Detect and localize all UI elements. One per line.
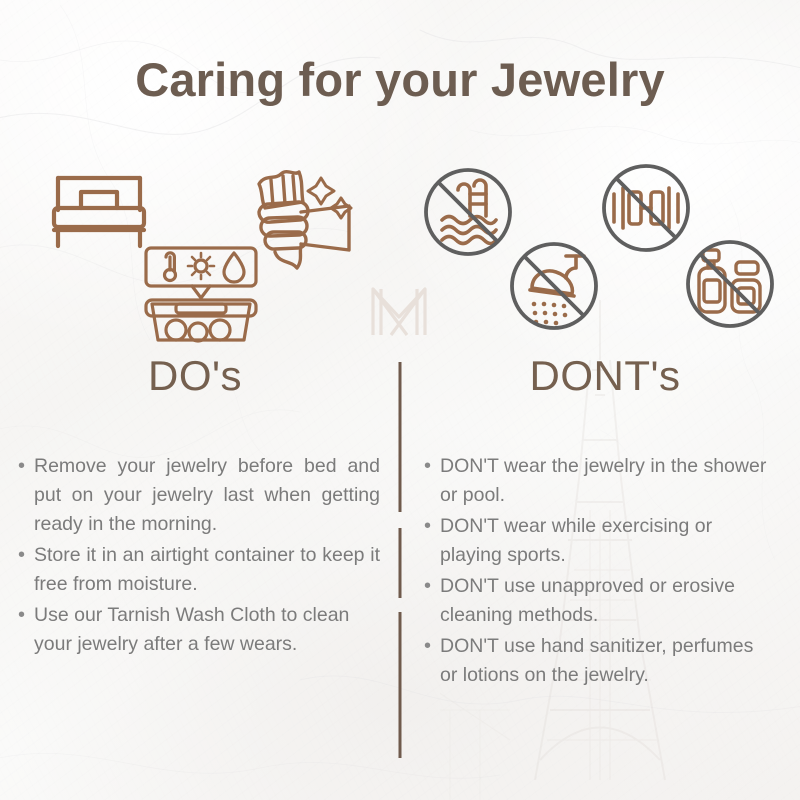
bullet-icon: • (424, 572, 440, 601)
no-lotion-bottles-icon (682, 236, 778, 332)
list-item: • Store it in an airtight container to k… (18, 541, 380, 599)
column-divider (398, 360, 402, 760)
donts-icon-group (410, 160, 785, 345)
list-item-text: DON'T use unapproved or erosive cleaning… (440, 572, 776, 630)
list-item-text: Use our Tarnish Wash Cloth to clean your… (34, 601, 380, 659)
bullet-icon: • (18, 452, 34, 481)
poster-canvas: Caring for your Jewelry (0, 0, 800, 800)
no-shower-icon (506, 238, 602, 334)
dos-list: • Remove your jewelry before bed and put… (18, 452, 380, 661)
bed-icon (48, 170, 158, 252)
donts-list: • DON'T wear the jewelry in the shower o… (424, 452, 776, 692)
list-item: • DON'T wear the jewelry in the shower o… (424, 452, 776, 510)
list-item: • DON'T wear while exercising or playing… (424, 512, 776, 570)
page-title: Caring for your Jewelry (0, 52, 800, 107)
dos-icon-group (30, 160, 370, 345)
list-item-text: DON'T wear while exercising or playing s… (440, 512, 776, 570)
list-item: • DON'T use hand sanitizer, perfumes or … (424, 632, 776, 690)
donts-heading: DONT's (410, 352, 800, 400)
list-item-text: Store it in an airtight container to kee… (34, 541, 380, 599)
polishing-cloth-icon (245, 168, 363, 273)
airtight-container-icon (140, 244, 262, 344)
list-item-text: DON'T wear the jewelry in the shower or … (440, 452, 776, 510)
no-dumbbell-icon (598, 160, 694, 256)
dos-heading: DO's (0, 352, 390, 400)
bullet-icon: • (424, 452, 440, 481)
list-item-text: DON'T use hand sanitizer, perfumes or lo… (440, 632, 776, 690)
list-item: • Remove your jewelry before bed and put… (18, 452, 380, 539)
bullet-icon: • (424, 512, 440, 541)
no-pool-icon (420, 164, 516, 260)
bullet-icon: • (18, 541, 34, 570)
list-item: • DON'T use unapproved or erosive cleani… (424, 572, 776, 630)
bullet-icon: • (18, 601, 34, 630)
m-monogram-logo (367, 283, 431, 339)
list-item: • Use our Tarnish Wash Cloth to clean yo… (18, 601, 380, 659)
bullet-icon: • (424, 632, 440, 661)
list-item-text: Remove your jewelry before bed and put o… (34, 452, 380, 539)
